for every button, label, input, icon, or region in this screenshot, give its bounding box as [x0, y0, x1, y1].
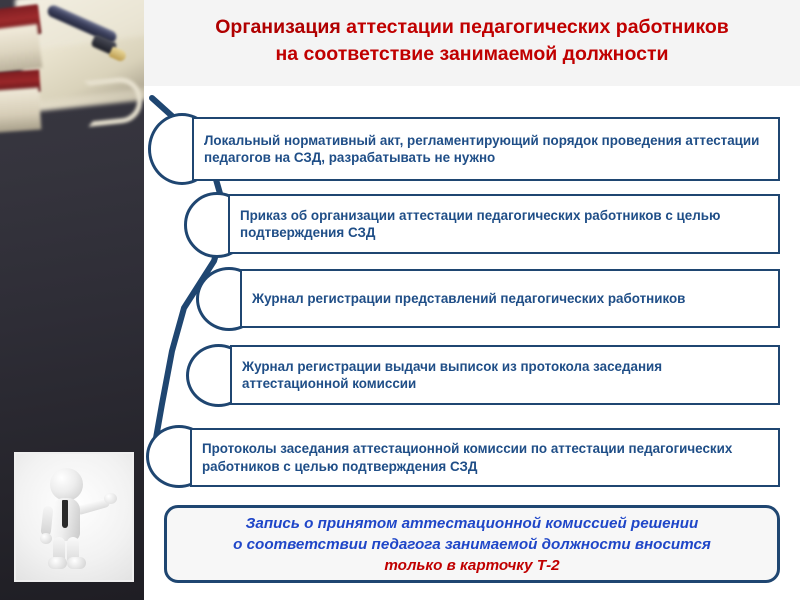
final-note-box: Запись о принятом аттестационной комисси… — [164, 505, 780, 583]
figure-head-icon — [50, 468, 83, 501]
title-lead-word: Организация — [215, 16, 340, 38]
figure-right-hand-icon — [104, 493, 117, 504]
step-box-1: Локальный нормативный акт, регламентирую… — [192, 117, 780, 181]
3d-figure-thumbnail — [14, 452, 134, 582]
step-label-1: Локальный нормативный акт, регламентирую… — [194, 132, 778, 167]
figure-tie-icon — [62, 500, 68, 528]
step-label-2: Приказ об организации аттестации педагог… — [230, 207, 778, 242]
book-bottom-pages-icon — [0, 88, 41, 135]
title-line-2: на соответствие занимаемой должности — [144, 41, 800, 68]
step-box-2: Приказ об организации аттестации педагог… — [228, 194, 780, 254]
step-box-3: Журнал регистрации представлений педагог… — [240, 269, 780, 328]
final-note-line-1: Запись о принятом аттестационной комисси… — [246, 513, 699, 534]
step-box-5: Протоколы заседания аттестационной комис… — [190, 428, 780, 487]
book-top-pages-icon — [0, 24, 42, 76]
page-title: Организация аттестации педагогических ра… — [144, 14, 800, 68]
left-photo-panel — [0, 0, 144, 600]
step-label-5: Протоколы заседания аттестационной комис… — [192, 440, 778, 475]
final-note-line-3: только в карточку Т-2 — [384, 555, 559, 576]
slide-canvas: Организация аттестации педагогических ра… — [0, 0, 800, 600]
title-rest: аттестации педагогических работников — [341, 16, 729, 38]
figure-left-foot-icon — [48, 557, 67, 569]
step-box-4: Журнал регистрации выдачи выписок из про… — [230, 345, 780, 405]
figure-right-foot-icon — [67, 557, 86, 569]
title-line-1: Организация аттестации педагогических ра… — [144, 14, 800, 41]
figure-left-hand-icon — [40, 533, 52, 544]
final-note-line-2: о соответствии педагога занимаемой должн… — [233, 534, 711, 555]
step-label-4: Журнал регистрации выдачи выписок из про… — [232, 358, 778, 393]
step-label-3: Журнал регистрации представлений педагог… — [242, 290, 693, 308]
